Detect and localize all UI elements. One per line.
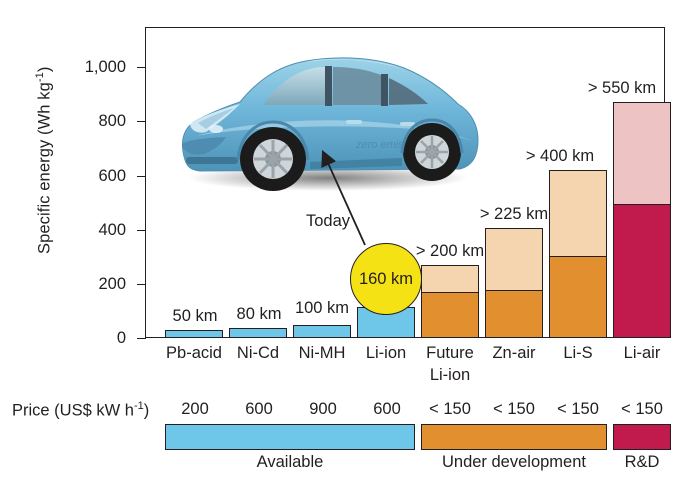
price-value-ni-mh: 900 [294, 400, 352, 419]
x-label-li-air: Li-air [604, 344, 680, 363]
y-tick-label-800: 800 [54, 113, 126, 130]
bar-ni-cd[interactable] [229, 328, 287, 338]
price-value-li-s: < 150 [548, 400, 608, 419]
today-annotation-label: Today [306, 212, 350, 231]
bar-li-s[interactable] [549, 170, 607, 338]
today-range-value: 160 km [359, 270, 413, 289]
chart-figure: Specific energy (Wh kg-1) 1,000 800 600 … [0, 0, 686, 483]
status-band-available[interactable] [165, 424, 415, 450]
bar-label-ni-mh: 100 km [288, 300, 356, 317]
y-tick-label-1000: 1,000 [54, 59, 126, 76]
bar-zn-air[interactable] [485, 228, 543, 338]
price-value-li-ion: 600 [358, 400, 416, 419]
status-band-label-available: Available [165, 453, 415, 472]
price-row-title: Price (US$ kW h-1) [12, 400, 149, 421]
bar-label-pb-acid: 50 km [166, 308, 224, 325]
bar-segment-li-air-lower [614, 204, 670, 337]
bar-label-ni-cd: 80 km [230, 306, 288, 323]
y-tick-label-0: 0 [54, 330, 126, 347]
today-range-bubble[interactable]: 160 km [350, 243, 422, 315]
bar-label-li-s: > 400 km [521, 148, 599, 165]
y-axis-title: Specific energy (Wh kg-1) [34, 20, 55, 300]
y-tick-label-200: 200 [54, 276, 126, 293]
y-axis-title-tail: ) [35, 67, 53, 73]
price-row-title-tail: ) [144, 402, 150, 420]
price-value-future-li-ion: < 150 [420, 400, 480, 419]
price-row-title-exponent: -1 [134, 400, 144, 412]
bar-pb-acid[interactable] [165, 330, 223, 338]
bar-label-li-air: > 550 km [583, 80, 661, 97]
x-label-future-li-ion-line2: Li-ion [412, 366, 488, 385]
bar-segment-future-li-ion-lower [422, 292, 478, 337]
bar-ni-mh[interactable] [293, 325, 351, 338]
status-band-under-development[interactable] [421, 424, 607, 450]
y-tick-0 [137, 338, 146, 339]
y-axis-title-main: Specific energy (Wh kg [35, 82, 53, 254]
bar-future-li-ion[interactable] [421, 265, 479, 338]
bar-segment-li-s-lower [550, 256, 606, 337]
price-row-title-main: Price (US$ kW h [12, 402, 134, 420]
status-band-label-under-development: Under development [421, 453, 607, 472]
bar-segment-zn-air-lower [486, 290, 542, 337]
status-band-label-rd: R&D [613, 453, 671, 472]
price-value-li-air: < 150 [612, 400, 672, 419]
bar-label-zn-air: > 225 km [475, 206, 553, 223]
bar-label-future-li-ion: > 200 km [411, 243, 489, 260]
price-value-pb-acid: 200 [166, 400, 224, 419]
y-tick-label-600: 600 [54, 168, 126, 185]
y-axis-title-exponent: -1 [34, 72, 46, 82]
bar-li-air[interactable] [613, 102, 671, 338]
price-value-ni-cd: 600 [230, 400, 288, 419]
price-value-zn-air: < 150 [484, 400, 544, 419]
status-band-rd[interactable] [613, 424, 671, 450]
y-tick-label-400: 400 [54, 222, 126, 239]
